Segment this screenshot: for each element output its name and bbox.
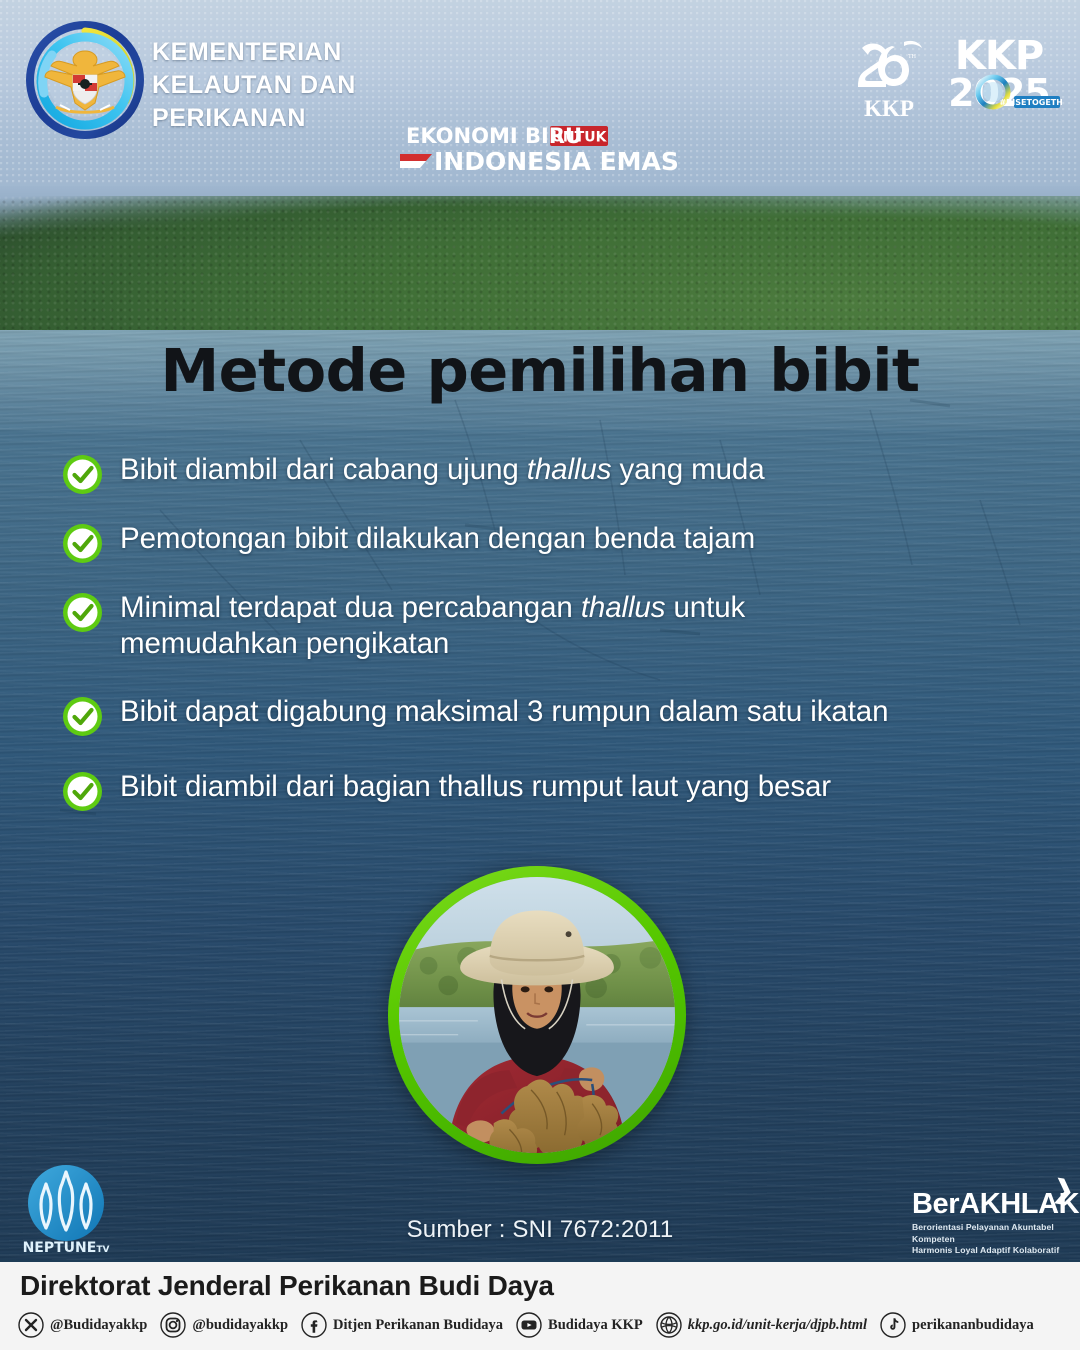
ministry-name-line-2: KELAUTAN DAN (152, 69, 356, 102)
kkp-2025-hashtag: #RISETOGETHER (999, 98, 1062, 107)
seaweed-farmer-photo-frame (388, 866, 686, 1164)
poster-canvas: KEMENTERIAN KELAUTAN DAN PERIKANAN TH KK… (0, 0, 1080, 1350)
check-circle-icon (62, 771, 103, 812)
check-circle-icon (62, 523, 103, 564)
list-item-text: Bibit dapat digabung maksimal 3 rumpun d… (120, 694, 888, 730)
tagline-line-1: EKONOMI BIRU (406, 124, 582, 148)
social-label-tiktok: perikananbudidaya (912, 1317, 1034, 1334)
instagram-icon (160, 1312, 186, 1338)
kkp-2025-logo-icon: KKP 2025 #RISETOGETHER (936, 32, 1062, 114)
tagline-line-2: INDONESIA EMAS (434, 147, 679, 176)
social-links-bar: @Budidayakkp @budidayakkp Ditjen Perikan… (18, 1312, 1068, 1338)
social-link-youtube[interactable]: Budidaya KKP (516, 1312, 643, 1338)
campaign-tagline: UNTUK EKONOMI BIRU INDONESIA EMAS (398, 124, 688, 178)
forested-island-background (0, 196, 1080, 346)
seaweed-farmer-photo (399, 877, 675, 1153)
list-item: Bibit diambil dari bagian thallus rumput… (62, 769, 1042, 812)
chevron-right-icon: ❯ (1052, 1177, 1076, 1205)
poster-header: KEMENTERIAN KELAUTAN DAN PERIKANAN TH KK… (0, 0, 1080, 190)
ministry-name: KEMENTERIAN KELAUTAN DAN PERIKANAN (152, 36, 356, 135)
berakhlak-subtitle-line-1: Berorientasi Pelayanan Akuntabel Kompete… (912, 1222, 1072, 1245)
list-item-text: Pemotongan bibit dilakukan dengan benda … (120, 521, 755, 557)
youtube-icon (516, 1312, 542, 1338)
ministry-name-line-3: PERIKANAN (152, 102, 356, 135)
list-item: Bibit dapat digabung maksimal 3 rumpun d… (62, 694, 1042, 737)
social-label-youtube: Budidaya KKP (548, 1317, 643, 1334)
x-twitter-icon (18, 1312, 44, 1338)
facebook-icon (301, 1312, 327, 1338)
social-label-facebook: Ditjen Perikanan Budidaya (333, 1317, 503, 1334)
social-link-facebook[interactable]: Ditjen Perikanan Budidaya (301, 1312, 503, 1338)
list-item: Minimal terdapat dua percabangan thallus… (62, 590, 1042, 662)
method-list: Bibit diambil dari cabang ujung thallus … (62, 452, 1042, 838)
berakhlak-subtitle-line-2: Harmonis Loyal Adaptif Kolaboratif (912, 1245, 1072, 1257)
social-label-instagram: @budidayakkp (192, 1317, 288, 1334)
berakhlak-subtitle: Berorientasi Pelayanan Akuntabel Kompete… (912, 1222, 1072, 1257)
anniversary-logo-label: KKP (864, 96, 914, 121)
berakhlak-brand-prefix: Ber (912, 1188, 959, 1220)
globe-website-icon (656, 1312, 682, 1338)
social-link-instagram[interactable]: @budidayakkp (160, 1312, 288, 1338)
list-item: Pemotongan bibit dilakukan dengan benda … (62, 521, 1042, 564)
list-item-text: Bibit diambil dari bagian thallus rumput… (120, 769, 831, 805)
social-link-website[interactable]: kkp.go.id/unit-kerja/djpb.html (656, 1312, 867, 1338)
berakhlak-logo: BerAKHLAK ❯ Berorientasi Pelayanan Akunt… (912, 1190, 1072, 1252)
social-label-website: kkp.go.id/unit-kerja/djpb.html (688, 1317, 867, 1334)
check-circle-icon (62, 592, 103, 633)
footer-title: Direktorat Jenderal Perikanan Budi Daya (20, 1270, 554, 1302)
kkp-26th-anniversary-logo-icon: TH KKP (848, 38, 930, 122)
poster-footer: Direktorat Jenderal Perikanan Budi Daya … (0, 1262, 1080, 1350)
svg-text:TH: TH (908, 54, 917, 60)
page-title: Metode pemilihan bibit (0, 336, 1080, 405)
list-item: Bibit diambil dari cabang ujung thallus … (62, 452, 1042, 495)
social-label-x: @Budidayakkp (50, 1317, 147, 1334)
tiktok-icon (880, 1312, 906, 1338)
neptune-logo-label: NEPTUNETV (23, 1240, 110, 1256)
check-circle-icon (62, 454, 103, 495)
list-item-text: Bibit diambil dari cabang ujung thallus … (120, 452, 765, 488)
seaweed-farmer-illustration (399, 877, 675, 1153)
garuda-pancasila-emblem-icon (26, 21, 144, 139)
check-circle-icon (62, 696, 103, 737)
neptune-trident-logo-icon: NEPTUNETV (18, 1158, 114, 1258)
social-link-tiktok[interactable]: perikananbudidaya (880, 1312, 1034, 1338)
list-item-text: Minimal terdapat dua percabangan thallus… (120, 590, 820, 662)
berakhlak-brand: BerAKHLAK ❯ (912, 1190, 1072, 1219)
social-link-x[interactable]: @Budidayakkp (18, 1312, 147, 1338)
indonesia-flag-icon (400, 154, 432, 168)
ministry-name-line-1: KEMENTERIAN (152, 36, 356, 69)
